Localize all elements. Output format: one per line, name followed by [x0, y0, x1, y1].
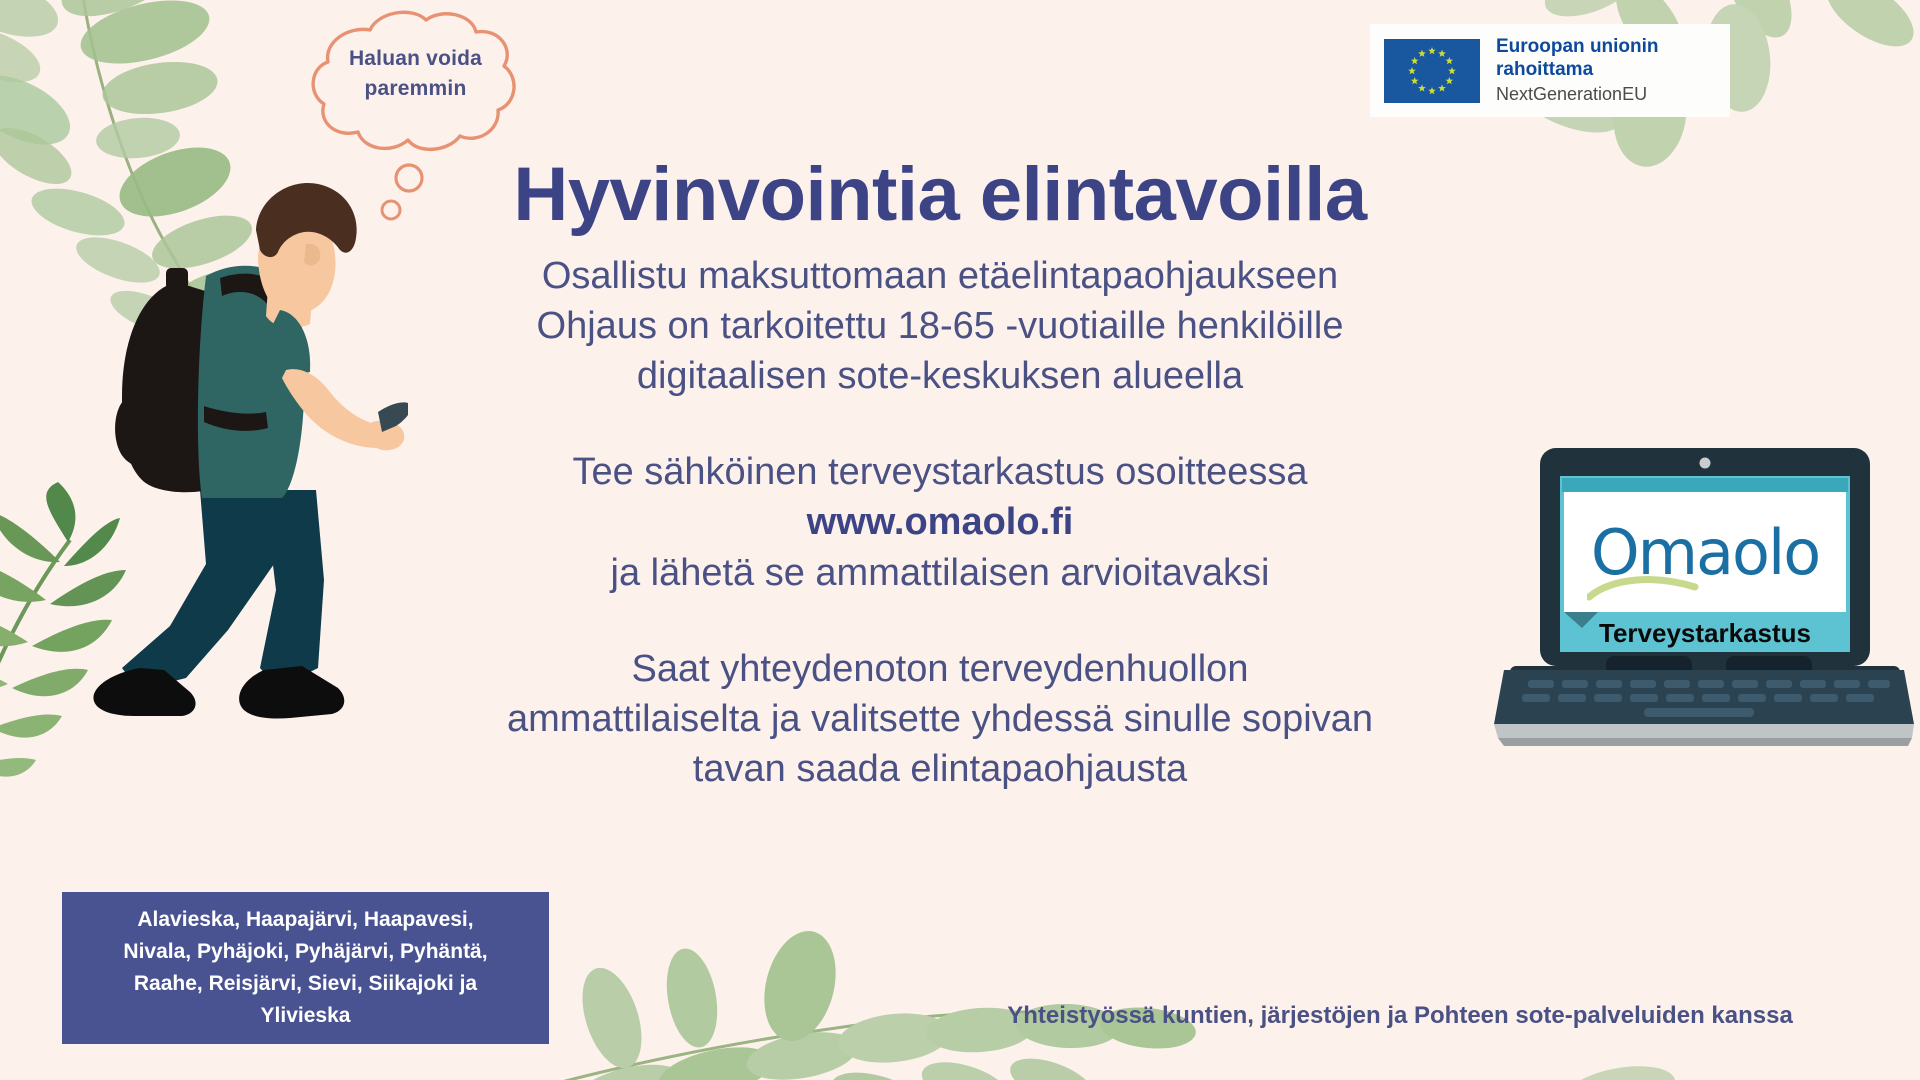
laptop-screen-caption: Terveystarkastus [1560, 614, 1850, 652]
leaf-branch-bottom-icon [480, 890, 1200, 1080]
paragraph-intro-line-2: Ohjaus on tarkoitettu 18-65 -vuotiaille … [400, 301, 1480, 351]
paragraph-contact-line-2: ammattilaiselta ja valitsette yhdessä si… [400, 694, 1480, 744]
poster-root: Haluan voida paremmin [0, 0, 1920, 1080]
footer-collaboration-note: Yhteistyössä kuntien, järjestöjen ja Poh… [900, 1002, 1900, 1030]
laptop-illustration: Omaolo Terveystarkastus [1494, 448, 1914, 748]
paragraph-healthcheck-line-1: Tee sähköinen terveystarkastus osoittees… [400, 447, 1480, 497]
main-text-block: Hyvinvointia elintavoilla Osallistu maks… [400, 155, 1480, 794]
omaolo-swoosh-icon [1587, 575, 1707, 601]
omaolo-url[interactable]: www.omaolo.fi [400, 497, 1480, 547]
paragraph-contact-line-1: Saat yhteydenoton terveydenhuollon [400, 644, 1480, 694]
municipality-list-box: Alavieska, Haapajärvi, Haapavesi, Nivala… [62, 892, 549, 1044]
eu-logo-subheading: NextGenerationEU [1496, 84, 1659, 105]
page-title: Hyvinvointia elintavoilla [400, 155, 1480, 235]
eu-funding-logo: Euroopan unionin rahoittama NextGenerati… [1370, 24, 1730, 117]
paragraph-intro-line-3: digitaalisen sote-keskuksen alueella [400, 351, 1480, 401]
thought-bubble: Haluan voida paremmin [308, 8, 523, 163]
municipality-list-text: Alavieska, Haapajärvi, Haapavesi, Nivala… [109, 904, 501, 1032]
eu-flag-icon [1384, 39, 1480, 103]
paragraph-contact: Saat yhteydenoton terveydenhuollon ammat… [400, 644, 1480, 794]
paragraph-contact-line-3: tavan saada elintapaohjausta [400, 744, 1480, 794]
paragraph-intro: Osallistu maksuttomaan etäelintapaohjauk… [400, 251, 1480, 401]
omaolo-logo: Omaolo [1564, 492, 1846, 612]
paragraph-healthcheck: Tee sähköinen terveystarkastus osoittees… [400, 447, 1480, 597]
thought-bubble-text: Haluan voida paremmin [308, 44, 523, 105]
eu-logo-text: Euroopan unionin rahoittama NextGenerati… [1496, 36, 1659, 104]
eu-logo-heading: Euroopan unionin rahoittama [1496, 36, 1659, 80]
laptop-screen-caption-text: Terveystarkastus [1599, 618, 1811, 649]
walking-person-illustration [78, 160, 408, 740]
paragraph-healthcheck-line-3: ja lähetä se ammattilaisen arvioitavaksi [400, 548, 1480, 598]
paragraph-intro-line-1: Osallistu maksuttomaan etäelintapaohjauk… [400, 251, 1480, 301]
